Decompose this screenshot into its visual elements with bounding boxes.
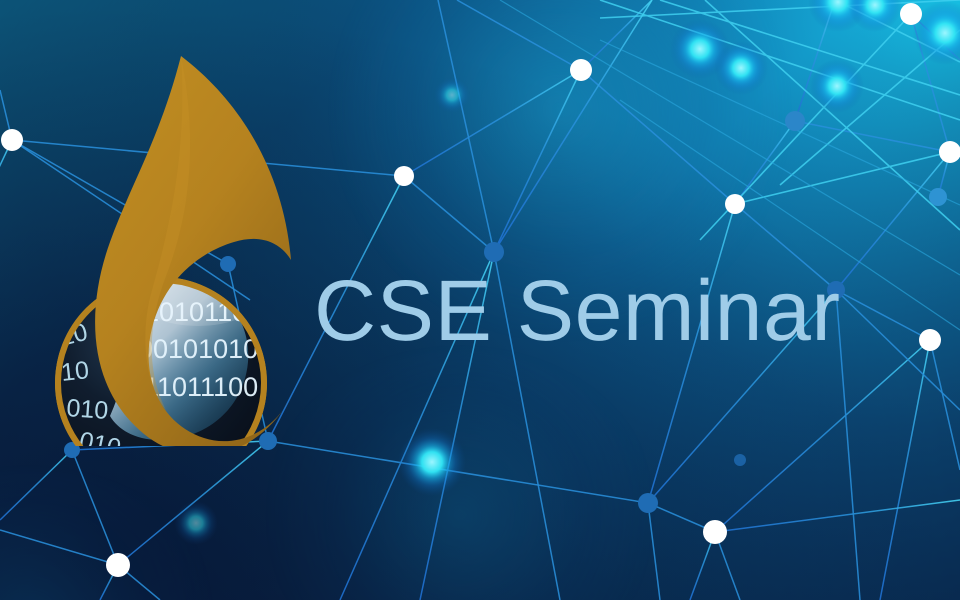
cse-seminar-banner: 1/ 10 10 010 010. 01010 1010110 00101010… xyxy=(0,0,960,600)
svg-text:00101010: 00101010 xyxy=(138,334,258,364)
svg-text:11011100: 11011100 xyxy=(144,372,258,402)
cse-seminar-logo: 1/ 10 10 010 010. 01010 1010110 00101010… xyxy=(48,46,328,446)
page-title: CSE Seminar xyxy=(314,268,840,354)
svg-text:010: 010 xyxy=(66,394,110,425)
svg-text:10: 10 xyxy=(60,356,91,387)
